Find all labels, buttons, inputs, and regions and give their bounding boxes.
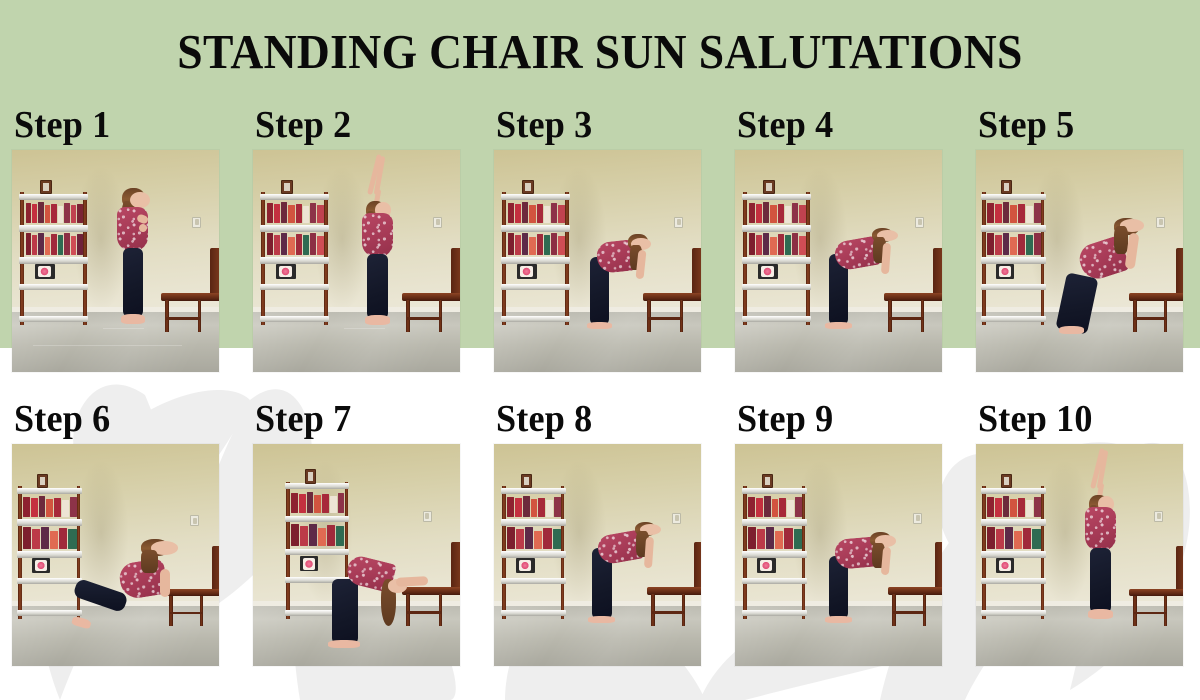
step-label-4: Step 4	[737, 104, 932, 150]
step-cell-3: Step 3	[494, 104, 701, 372]
step-photo-1	[12, 150, 219, 372]
step-photo-5	[976, 150, 1183, 372]
step-label-3: Step 3	[496, 104, 691, 150]
step-label-7: Step 7	[255, 398, 450, 444]
step-photo-2	[253, 150, 460, 372]
step-label-6: Step 6	[14, 398, 209, 444]
step-cell-4: Step 4	[735, 104, 942, 372]
step-photo-10	[976, 444, 1183, 666]
step-photo-6	[12, 444, 219, 666]
step-photo-3	[494, 150, 701, 372]
step-label-9: Step 9	[737, 398, 932, 444]
step-photo-9	[735, 444, 942, 666]
step-label-8: Step 8	[496, 398, 691, 444]
step-cell-8: Step 8	[494, 398, 701, 666]
step-label-10: Step 10	[978, 398, 1173, 444]
step-cell-2: Step 2	[253, 104, 460, 372]
page-title: STANDING CHAIR SUN SALUTATIONS	[42, 26, 1158, 78]
step-cell-7: Step 7	[253, 398, 460, 666]
step-cell-6: Step 6	[12, 398, 219, 666]
step-cell-5: Step 5	[976, 104, 1183, 372]
step-label-1: Step 1	[14, 104, 209, 150]
poster-canvas: STANDING CHAIR SUN SALUTATIONS Step 1	[0, 0, 1200, 700]
step-photo-7	[253, 444, 460, 666]
step-cell-1: Step 1	[12, 104, 219, 372]
step-cell-9: Step 9	[735, 398, 942, 666]
step-label-2: Step 2	[255, 104, 450, 150]
step-label-5: Step 5	[978, 104, 1173, 150]
step-photo-4	[735, 150, 942, 372]
step-photo-8	[494, 444, 701, 666]
step-cell-10: Step 10	[976, 398, 1183, 666]
